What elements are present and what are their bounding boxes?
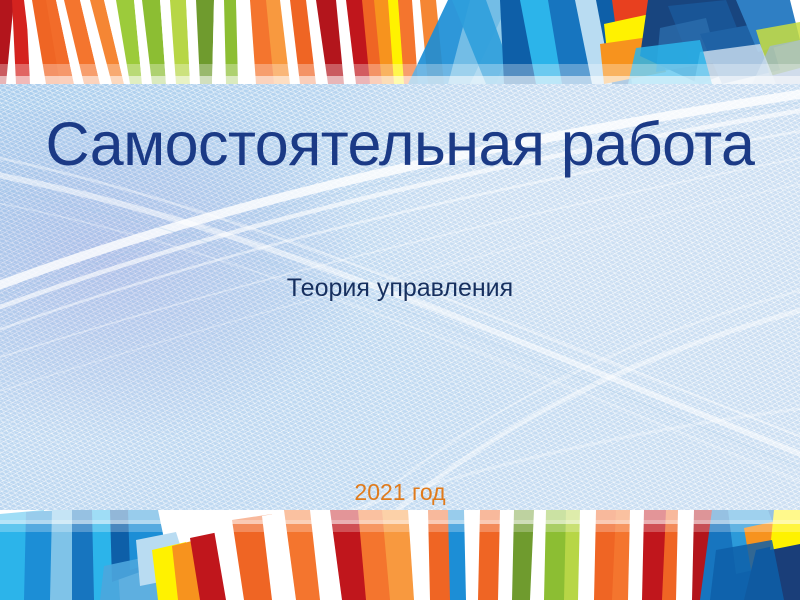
bottom-decorative-band — [0, 510, 800, 600]
slide-year: 2021 год — [0, 477, 800, 507]
top-decorative-band — [0, 0, 800, 84]
slide-subtitle: Теория управления — [0, 272, 800, 304]
slide-title: Самостоятельная работа — [0, 108, 800, 180]
top-band-artwork — [0, 0, 800, 84]
bottom-band-artwork — [0, 510, 800, 600]
presentation-slide: Самостоятельная работа Теория управления… — [0, 0, 800, 600]
